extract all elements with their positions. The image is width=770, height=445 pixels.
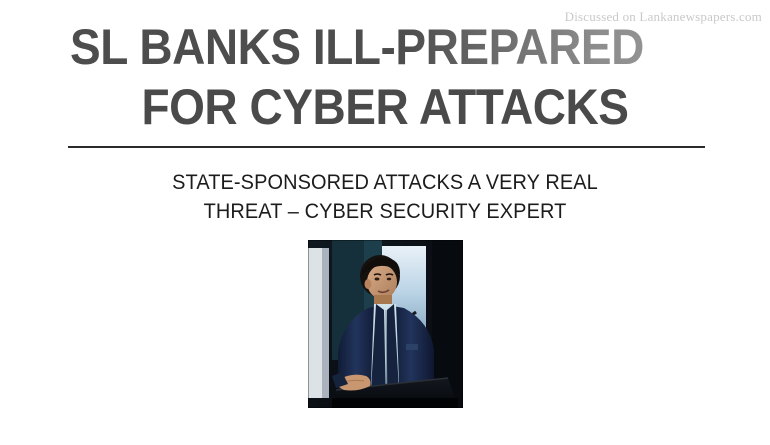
subtitle-line-1: STATE-SPONSORED ATTACKS A VERY REAL <box>19 168 751 197</box>
speaker-photo <box>308 240 463 408</box>
subtitle-line-2: THREAT – CYBER SECURITY EXPERT <box>19 197 751 226</box>
watermark-text: Discussed on Lankanewspapers.com <box>565 9 762 25</box>
horizontal-divider <box>68 146 705 148</box>
headline: SL BANKS ILL-PREPARED FOR CYBER ATTACKS <box>0 18 770 136</box>
article-header-image: Discussed on Lankanewspapers.com SL BANK… <box>0 0 770 445</box>
headline-line-2: FOR CYBER ATTACKS <box>31 78 739 136</box>
subtitle: STATE-SPONSORED ATTACKS A VERY REAL THRE… <box>0 168 770 226</box>
speaker-photo-illustration <box>308 240 463 408</box>
headline-line-1: SL BANKS ILL-PREPARED <box>70 18 714 76</box>
